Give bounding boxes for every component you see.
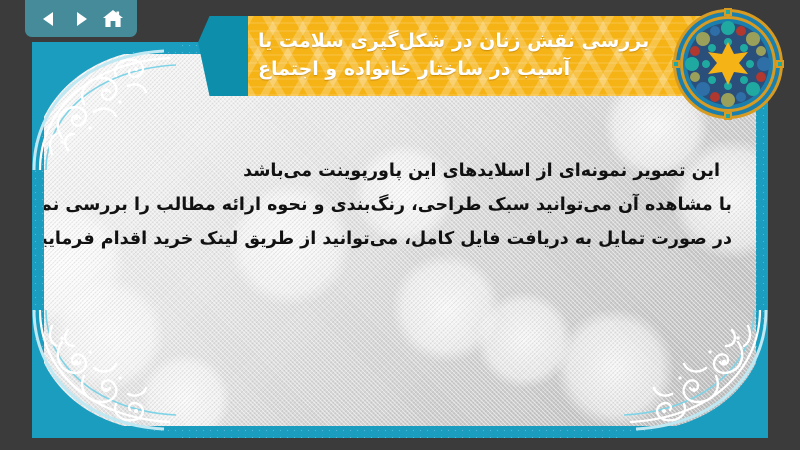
triangle-left-icon xyxy=(39,9,59,29)
slide-frame: این تصویر نمونه‌ای از اسلایدهای این پاور… xyxy=(32,42,768,438)
bokeh-circle xyxy=(140,354,230,426)
home-slide-button[interactable] xyxy=(100,6,126,32)
next-slide-button[interactable] xyxy=(68,6,94,32)
bokeh-circle xyxy=(476,292,572,388)
triangle-right-icon xyxy=(71,9,91,29)
body-line-3: در صورت تمایل به دریافت فایل کامل، می‌تو… xyxy=(68,222,732,256)
slide-title-text: بررسی نقش زنان در شکل‌گیری سلامت یا آسیب… xyxy=(248,16,718,96)
home-icon xyxy=(102,8,124,30)
presentation-viewer: این تصویر نمونه‌ای از اسلایدهای این پاور… xyxy=(0,0,800,450)
body-line-1: این تصویر نمونه‌ای از اسلایدهای این پاور… xyxy=(68,154,732,188)
title-line-1: بررسی نقش زنان در شکل‌گیری سلامت یا xyxy=(258,28,649,56)
body-line-2: با مشاهده آن می‌توانید سبک طراحی، رنگ‌بن… xyxy=(68,188,732,222)
bokeh-circle xyxy=(392,254,500,362)
slide-title-banner: بررسی نقش زنان در شکل‌گیری سلامت یا آسیب… xyxy=(248,16,718,96)
slide-navigation-bar xyxy=(25,0,137,37)
previous-slide-button[interactable] xyxy=(36,6,62,32)
slide-content-panel: این تصویر نمونه‌ای از اسلایدهای این پاور… xyxy=(44,54,756,426)
bokeh-circle xyxy=(54,279,164,389)
bokeh-circle xyxy=(556,309,674,426)
title-line-2: آسیب در ساختار خانواده و اجتماع xyxy=(258,56,570,84)
slide-body-text: این تصویر نمونه‌ای از اسلایدهای این پاور… xyxy=(68,154,732,256)
